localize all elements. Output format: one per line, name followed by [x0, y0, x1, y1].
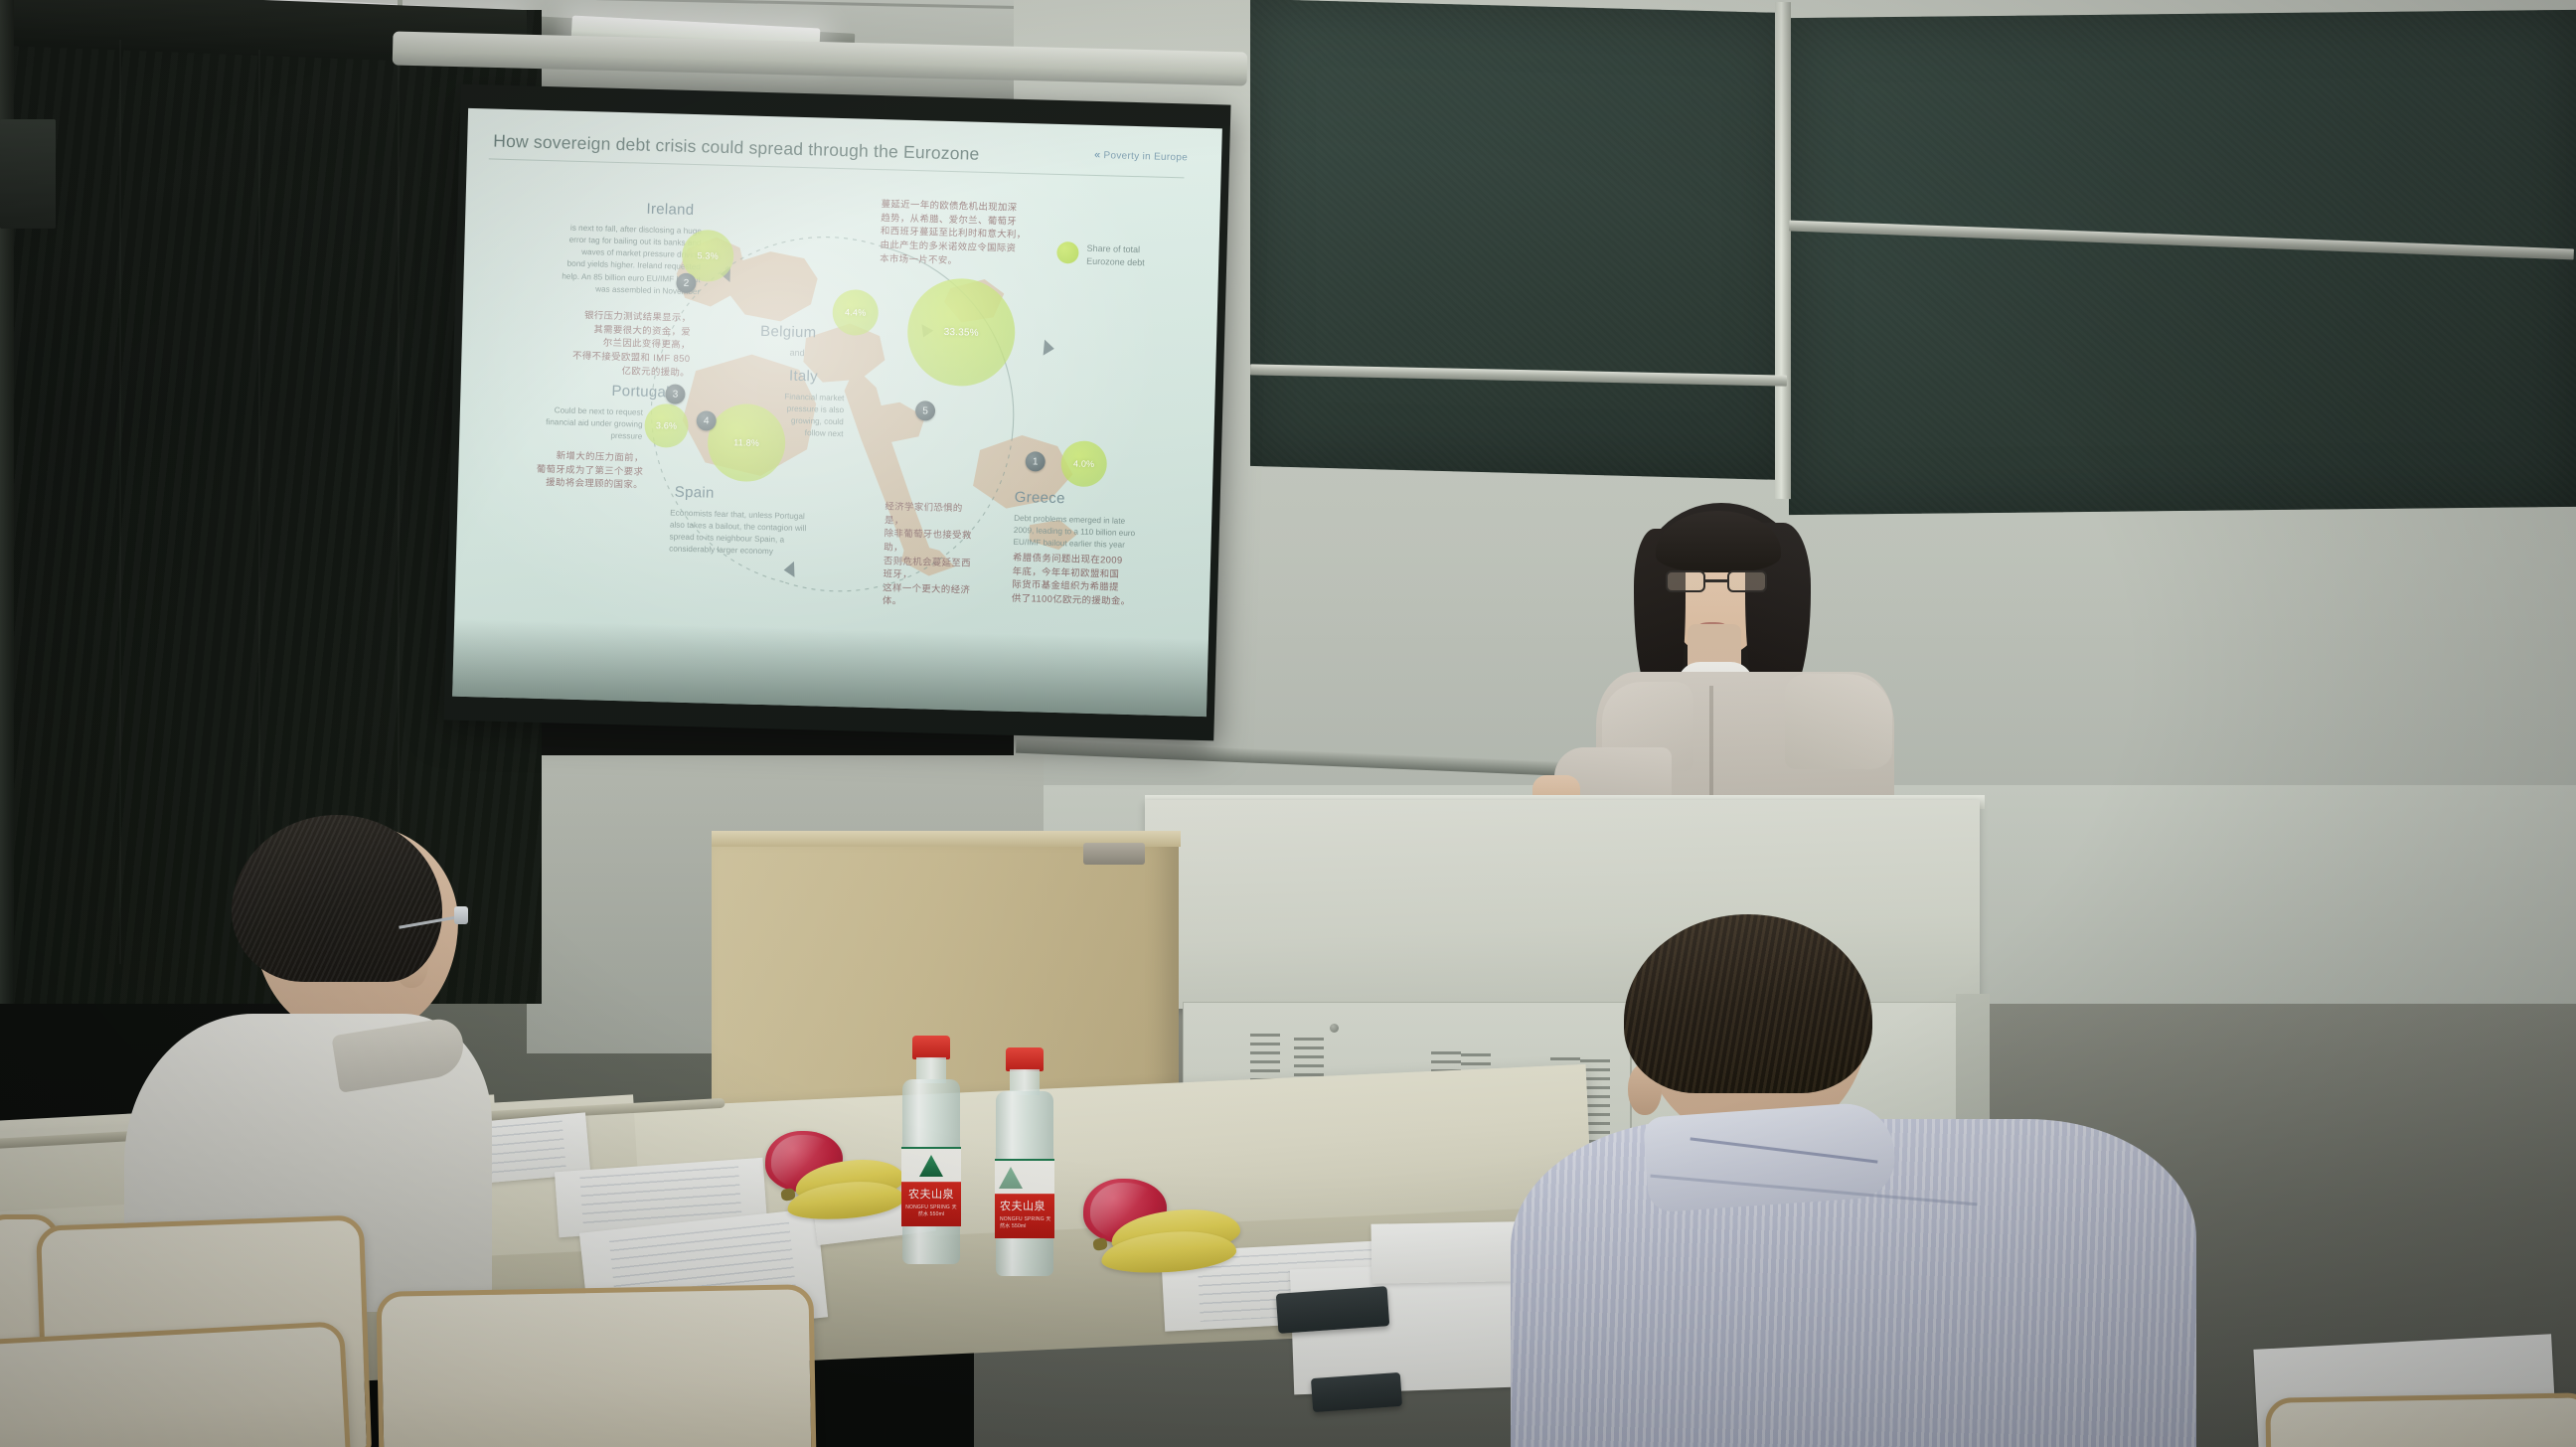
country-text-spain-cn: 经济学家们恐惧的是， 除非葡萄牙也接受救助， 否则危机会蔓延至西班牙， 这样一个…	[883, 499, 977, 609]
projector-screen[interactable]: How sovereign debt crisis could spread t…	[443, 84, 1230, 741]
phone-case[interactable]	[1276, 1286, 1390, 1334]
bottle-label: 农夫山泉 NONGFU SPRING 天然水 550ml	[901, 1147, 961, 1226]
bottle-brand-cn: 农夫山泉	[998, 1201, 1051, 1212]
seated-man-right	[1521, 914, 2236, 1447]
chevron-left-icon: «	[1094, 149, 1101, 161]
country-text-spain-en: Economists fear that, unless Portugal al…	[669, 507, 877, 561]
country-connector-and: and	[789, 348, 804, 358]
phone-case[interactable]	[1311, 1372, 1402, 1412]
slide-brand-label: Poverty in Europe	[1103, 150, 1188, 163]
bottle-cap[interactable]	[1006, 1047, 1044, 1071]
nongfu-mountain-icon	[919, 1155, 943, 1177]
slide-brand: «Poverty in Europe	[1094, 149, 1188, 164]
legend-label: Share of total Eurozone debt	[1086, 242, 1197, 271]
glasses-bridge	[1705, 579, 1729, 582]
nongfu-mountain-icon	[999, 1167, 1023, 1189]
presenter-shoulder-right	[1785, 674, 1892, 769]
country-label-belgium: Belgium	[760, 323, 817, 342]
man-left-glasses-hinge	[454, 906, 468, 924]
country-label-ireland: Ireland	[646, 201, 694, 219]
chalkboard-divider	[1775, 2, 1791, 499]
water-bottle[interactable]: 农夫山泉 NONGFU SPRING 天然水 550ml	[994, 1047, 1055, 1276]
wall-speaker	[0, 119, 56, 229]
country-text-greece-cn: 希腊债务问题出现在2009 年底，今年年初欧盟和国 际货币基金组织为希腊提 供了…	[1012, 551, 1184, 609]
country-label-italy: Italy	[789, 368, 818, 386]
country-text-ireland-cn: 银行压力测试结果显示， 其需要很大的资金，爱 尔兰因此变得更高， 不得不接受欧盟…	[491, 306, 692, 380]
presenter-glasses	[1666, 570, 1769, 594]
cabinet-top-object	[1083, 843, 1145, 865]
country-text-greece-en: Debt problems emerged in late 2009, lead…	[1013, 513, 1185, 554]
chalkboard-panel-left	[1250, 0, 1787, 480]
country-text-portugal-cn: 新增大的压力面前， 葡萄牙成为了第三个要求 援助将会理顾的国家。	[488, 447, 644, 492]
classroom-scene: How sovereign debt crisis could spread t…	[0, 0, 2576, 1447]
bottle-brand-en: NONGFU SPRING 天然水 550ml	[904, 1205, 958, 1218]
podium-lock[interactable]	[1330, 1024, 1339, 1033]
chair[interactable]	[376, 1284, 816, 1447]
man-right-hair	[1624, 914, 1872, 1093]
bottle-brand-en: NONGFU SPRING 天然水 550ml	[998, 1216, 1051, 1230]
bottle-label: 农夫山泉 NONGFU SPRING 天然水 550ml	[995, 1159, 1054, 1238]
chair[interactable]	[2265, 1392, 2576, 1447]
country-label-greece: Greece	[1015, 489, 1065, 507]
presenter	[1560, 477, 1918, 835]
bottle-brand-cn: 农夫山泉	[904, 1189, 958, 1201]
glasses-lens-right	[1727, 570, 1767, 592]
glasses-lens-left	[1666, 570, 1705, 592]
water-bottle[interactable]: 农夫山泉 NONGFU SPRING 天然水 550ml	[900, 1036, 962, 1264]
bottle-cap[interactable]	[912, 1036, 950, 1059]
slide-intro-chinese: 蔓延近一年的欧债危机出现加深 趋势，从希腊、爱尔兰、葡萄牙 和西班牙蔓延至比利时…	[880, 197, 1065, 269]
chair[interactable]	[0, 1321, 352, 1447]
country-label-spain: Spain	[675, 484, 715, 502]
man-right-collar	[1643, 1100, 1897, 1212]
country-text-ireland-en: is next to fall, after disclosing a huge…	[491, 221, 702, 298]
chalkboard-panel-right	[1789, 10, 2576, 515]
projected-slide: How sovereign debt crisis could spread t…	[452, 108, 1222, 717]
country-label-portugal: Portugal	[611, 383, 670, 402]
country-text-portugal-en: Could be next to request financial aid u…	[491, 403, 643, 444]
